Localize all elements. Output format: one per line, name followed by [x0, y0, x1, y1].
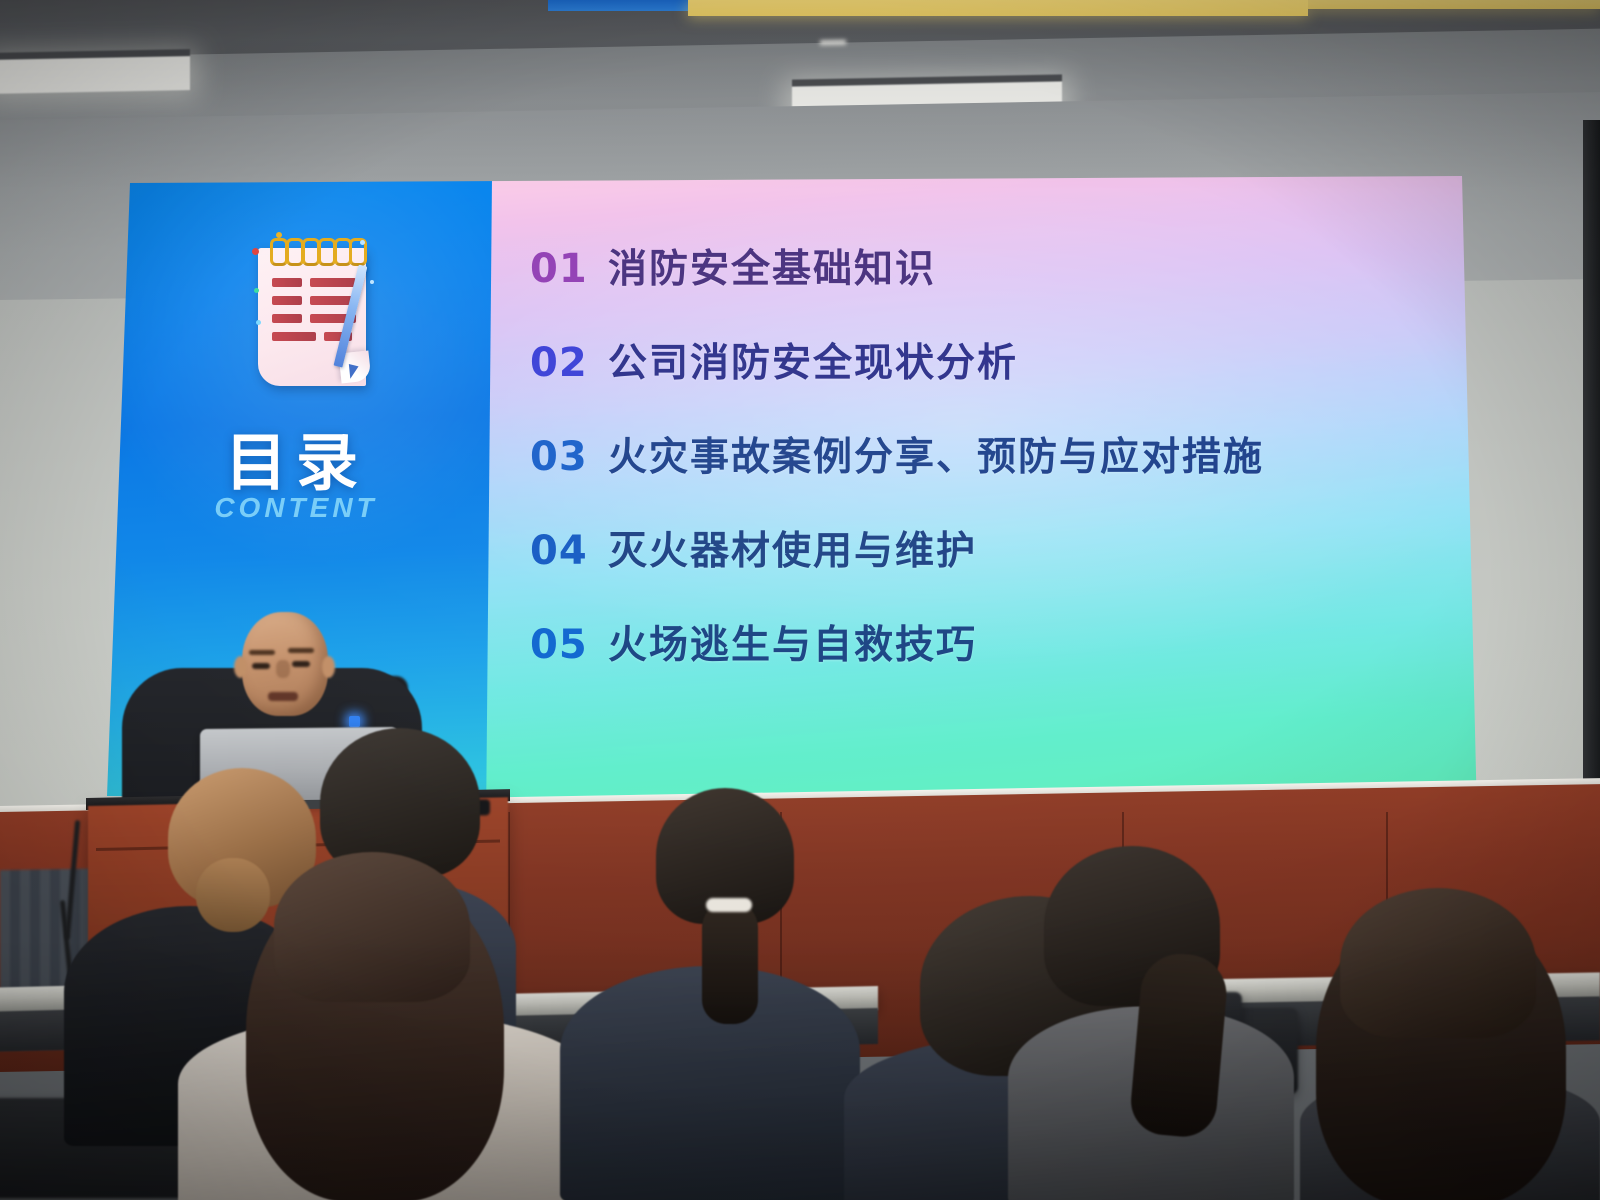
recessed-panel-light-left [0, 56, 190, 94]
presenter-brow-left [249, 650, 275, 655]
presenter-nose [276, 660, 290, 678]
presenter-eye-left [252, 663, 270, 669]
wall-right-dark-edge [1583, 120, 1600, 880]
presenter-eye-right [292, 661, 310, 667]
hair-tie [706, 898, 752, 912]
ceiling-blue-light-strip [548, 0, 688, 11]
blue-led-badge-icon [349, 716, 360, 727]
ceiling-fixture-small [820, 40, 846, 45]
presenter-mouth [268, 692, 298, 701]
presenter-ear-left [234, 656, 247, 678]
ceiling-yellow-light-strip-2 [1308, 0, 1600, 9]
ceiling-yellow-light-strip [688, 0, 1308, 16]
presenter-brow-right [288, 648, 314, 653]
conference-room-photo: 目录 CONTENT 01 消防安全基础知识 02 公司消防安全现状分析 03 … [0, 0, 1600, 1200]
presenter-ear-right [322, 656, 335, 678]
